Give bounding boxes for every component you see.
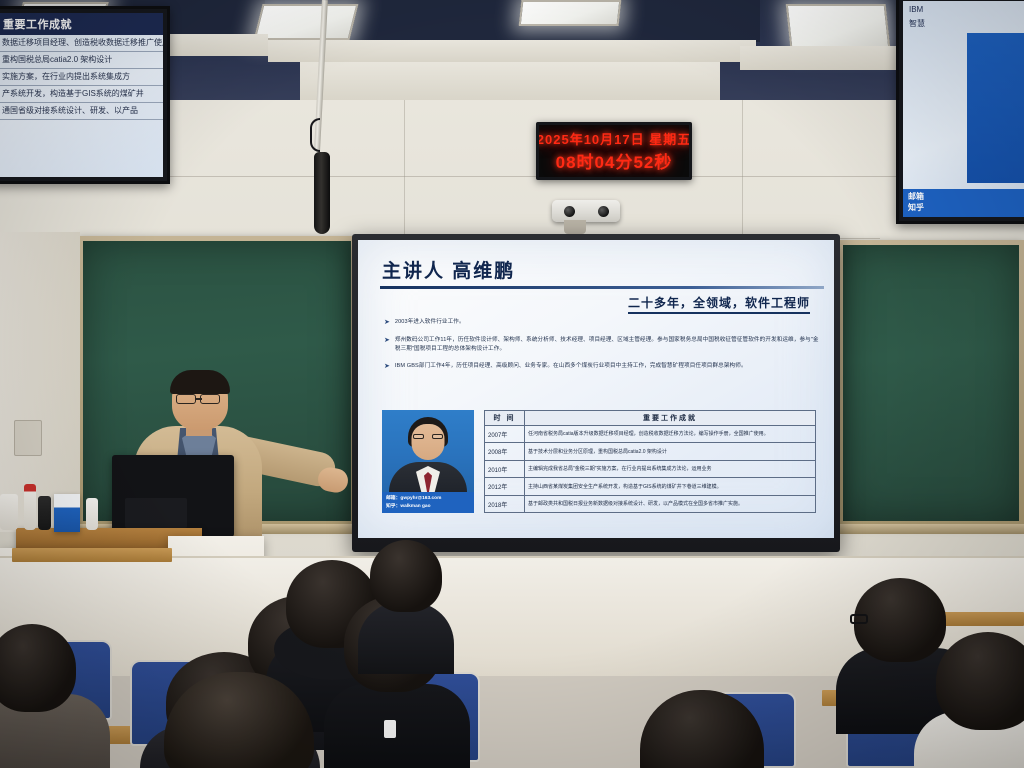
slide-title: 主讲人 高维鹏 <box>382 256 515 283</box>
ceiling-soffit-mid <box>268 40 756 62</box>
lecture-hall-scene: 重要工作成就 数据迁移项目经理、创造税收数据迁移推广使用。 重构国税总局cati… <box>0 0 1024 768</box>
audience-member-9 <box>930 632 1024 768</box>
ceiling-bulkhead <box>300 62 720 102</box>
portrait-face <box>412 424 445 460</box>
table-header-row: 时 间 重要工作成就 <box>485 411 816 426</box>
table-cell-year: 2007年 <box>485 426 525 443</box>
bullet-arrow-icon: ➤ <box>384 318 390 329</box>
side-display-right-accent-block <box>967 33 1024 183</box>
side-display-right[interactable]: IBM 智慧 邮箱 知乎 <box>896 0 1024 224</box>
ceiling-light-panel-3 <box>519 0 622 26</box>
table-cell-year: 2010年 <box>485 460 525 477</box>
table-cell-achievement: 任河南省税务局catia版本升级数据迁移项目经理，创造税收数据迁移方法论，编写操… <box>525 426 816 443</box>
wall-switch-panel <box>14 420 42 456</box>
water-bottle-2[interactable] <box>24 484 36 530</box>
side-display-left-row: 数据迁移项目经理、创造税收数据迁移推广使用。 <box>0 35 163 52</box>
audience-torso <box>358 602 454 674</box>
audience-logo-mark <box>384 720 396 738</box>
side-display-left-row: 产系统开发，构造基于GIS系统的煤矿井 <box>0 86 163 103</box>
table-header-achievement: 重要工作成就 <box>525 411 816 426</box>
bullet-arrow-icon: ➤ <box>384 362 390 373</box>
desk-edge-left-1 <box>12 548 172 562</box>
podium-monitor-stand <box>125 498 187 528</box>
wall-seam-v2 <box>742 100 743 240</box>
audience-head <box>164 672 314 768</box>
table-cell-achievement: 主编辑完成我省总局"金税三期"实施方案，在行业内提出系统集成方法论，运用业务 <box>525 460 816 477</box>
camera-lens-left <box>564 206 575 217</box>
slide-title-underline <box>380 286 824 289</box>
audience-head <box>0 624 76 712</box>
table-cell-achievement: 基于邮政类共和国税日报业务新数据级对接系统设计、研发，以产品模式在全国多省市推广… <box>525 495 816 512</box>
presenter-hand <box>316 466 350 495</box>
table-row: 2018年 基于邮政类共和国税日报业务新数据级对接系统设计、研发，以产品模式在全… <box>485 495 816 512</box>
side-display-right-bullet-1: IBM <box>903 1 1024 18</box>
side-display-left-header: 重要工作成就 <box>0 13 163 35</box>
table-header-time: 时 间 <box>485 411 525 426</box>
blackboard-right-chalk-rail <box>838 524 1024 534</box>
contact-zhihu-value: walkman gao <box>400 504 430 509</box>
table-row: 2007年 任河南省税务局catia版本升级数据迁移项目经理，创造税收数据迁移方… <box>485 426 816 443</box>
led-clock-display: 2025年10月17日 星期五 08时04分52秒 <box>536 122 692 180</box>
audience-member-6 <box>150 672 330 768</box>
audience-head <box>936 632 1024 730</box>
slide-bullet-item: ➤ 2003年进入软件行业工作。 <box>384 318 824 329</box>
table-cell-year: 2012年 <box>485 478 525 495</box>
contact-zhihu-label: 知乎： <box>386 504 400 509</box>
main-projection-screen[interactable]: 主讲人 高维鹏 二十多年，全领域，软件工程师 ➤ 2003年进入软件行业工作。 … <box>352 234 840 552</box>
audience-head <box>640 690 764 768</box>
water-bottle-1[interactable] <box>0 494 18 530</box>
side-display-left-row: 实施方案，在行业内提出系统集成方 <box>0 69 163 86</box>
microphone-cable <box>310 118 320 152</box>
blackboard-right-surface <box>843 245 1019 521</box>
spray-bottle[interactable] <box>86 498 98 530</box>
achievements-table-body: 2007年 任河南省税务局catia版本升级数据迁移项目经理，创造税收数据迁移方… <box>485 426 816 513</box>
side-display-left-row: 重构国税总局catia2.0 架构设计 <box>0 52 163 69</box>
led-clock-time: 08时04分52秒 <box>556 148 673 173</box>
side-display-left-screen: 重要工作成就 数据迁移项目经理、创造税收数据迁移推广使用。 重构国税总局cati… <box>0 13 163 177</box>
presenter-glasses-bridge <box>196 398 202 400</box>
table-cell-achievement: 基于技术分层和业务分区原理，重构国税总局catia2.0 架构设计 <box>525 443 816 460</box>
supply-box[interactable] <box>54 494 80 532</box>
achievements-table: 时 间 重要工作成就 2007年 任河南省税务局catia版本升级数据迁移项目经… <box>484 410 816 513</box>
camera-mount <box>564 220 586 234</box>
speaker-photo-card: 邮箱：gwpyhr@163.com 知乎：walkman gao <box>382 410 474 513</box>
audience-member-1 <box>0 624 110 768</box>
slide-lower-section: 邮箱：gwpyhr@163.com 知乎：walkman gao 时 间 重要工… <box>382 410 816 513</box>
microphone-icon <box>314 152 330 234</box>
table-cell-year: 2018年 <box>485 495 525 512</box>
table-cell-achievement: 主持山西省某煤炭集团安全生产系统开发，构造基于GIS系统的煤矿井下巷道三维建模。 <box>525 478 816 495</box>
blackboard-right <box>838 240 1024 526</box>
contact-email-value: gwpyhr@163.com <box>400 496 441 501</box>
side-display-right-contact-zhihu: 知乎 <box>908 203 1024 214</box>
slide-bullet-list: ➤ 2003年进入软件行业工作。 ➤ 郑州数码公司工作11年，历任软件设计师、架… <box>384 318 824 380</box>
audience-head <box>370 540 442 612</box>
portrait-glasses-left <box>413 434 424 439</box>
table-row: 2012年 主持山西省某煤炭集团安全生产系统开发，构造基于GIS系统的煤矿井下巷… <box>485 478 816 495</box>
contact-email-row: 邮箱：gwpyhr@163.com <box>386 495 470 503</box>
wall-seam-v1 <box>404 100 405 240</box>
side-display-right-bullet-2: 智慧 <box>903 18 1024 33</box>
slide-content: 主讲人 高维鹏 二十多年，全领域，软件工程师 ➤ 2003年进入软件行业工作。 … <box>358 240 834 538</box>
table-row: 2010年 主编辑完成我省总局"金税三期"实施方案，在行业内提出系统集成方法论，… <box>485 460 816 477</box>
side-display-right-contact-email: 邮箱 <box>908 192 1024 203</box>
audience-member-10 <box>640 690 770 768</box>
ceiling-camera-icon <box>552 200 620 222</box>
presenter-glasses-right <box>200 394 220 404</box>
camera-lens-right <box>598 206 609 217</box>
audience-torso <box>324 684 470 768</box>
slide-subtitle: 二十多年，全领域，软件工程师 <box>628 294 810 314</box>
ceiling-light-panel-2 <box>254 4 359 40</box>
contact-zhihu-row: 知乎：walkman gao <box>386 503 470 511</box>
audience-member-7 <box>358 540 454 670</box>
led-clock-date: 2025年10月17日 星期五 <box>537 129 691 148</box>
slide-contact-block: 邮箱：gwpyhr@163.com 知乎：walkman gao <box>382 492 474 513</box>
bullet-arrow-icon: ➤ <box>384 336 390 356</box>
table-cell-year: 2008年 <box>485 443 525 460</box>
contact-email-label: 邮箱： <box>386 496 400 501</box>
table-row: 2008年 基于技术分层和业务分区原理，重构国税总局catia2.0 架构设计 <box>485 443 816 460</box>
achievements-table-head: 时 间 重要工作成就 <box>485 411 816 426</box>
side-display-left-row: 通国省级对接系统设计、研发、以产品 <box>0 103 163 120</box>
side-display-right-screen: IBM 智慧 邮箱 知乎 <box>903 1 1024 217</box>
water-bottle-3[interactable] <box>38 496 51 530</box>
presenter-hair <box>170 370 230 394</box>
portrait-glasses-right <box>432 434 443 439</box>
slide-bullet-text: IBM GBS部门工作4年，历任项目经理、高级顾问、业务专家。在山西多个煤炭行业… <box>395 362 747 373</box>
side-display-left[interactable]: 重要工作成就 数据迁移项目经理、创造税收数据迁移推广使用。 重构国税总局cati… <box>0 6 170 184</box>
slide-bullet-text: 郑州数码公司工作11年，历任软件设计师、架构师、系统分析师、技术经理、项目经理、… <box>395 336 824 356</box>
slide-bullet-item: ➤ 郑州数码公司工作11年，历任软件设计师、架构师、系统分析师、技术经理、项目经… <box>384 336 824 356</box>
speaker-portrait-image <box>382 410 474 492</box>
audience-glasses-icon <box>850 614 868 624</box>
slide-bullet-text: 2003年进入软件行业工作。 <box>395 318 465 329</box>
wall-pillar-left <box>0 232 80 532</box>
presenter-glasses-left <box>176 394 196 404</box>
ceiling-light-panel-4 <box>786 4 891 48</box>
slide-bullet-item: ➤ IBM GBS部门工作4年，历任项目经理、高级顾问、业务专家。在山西多个煤炭… <box>384 362 824 373</box>
side-display-right-contact: 邮箱 知乎 <box>903 189 1024 217</box>
